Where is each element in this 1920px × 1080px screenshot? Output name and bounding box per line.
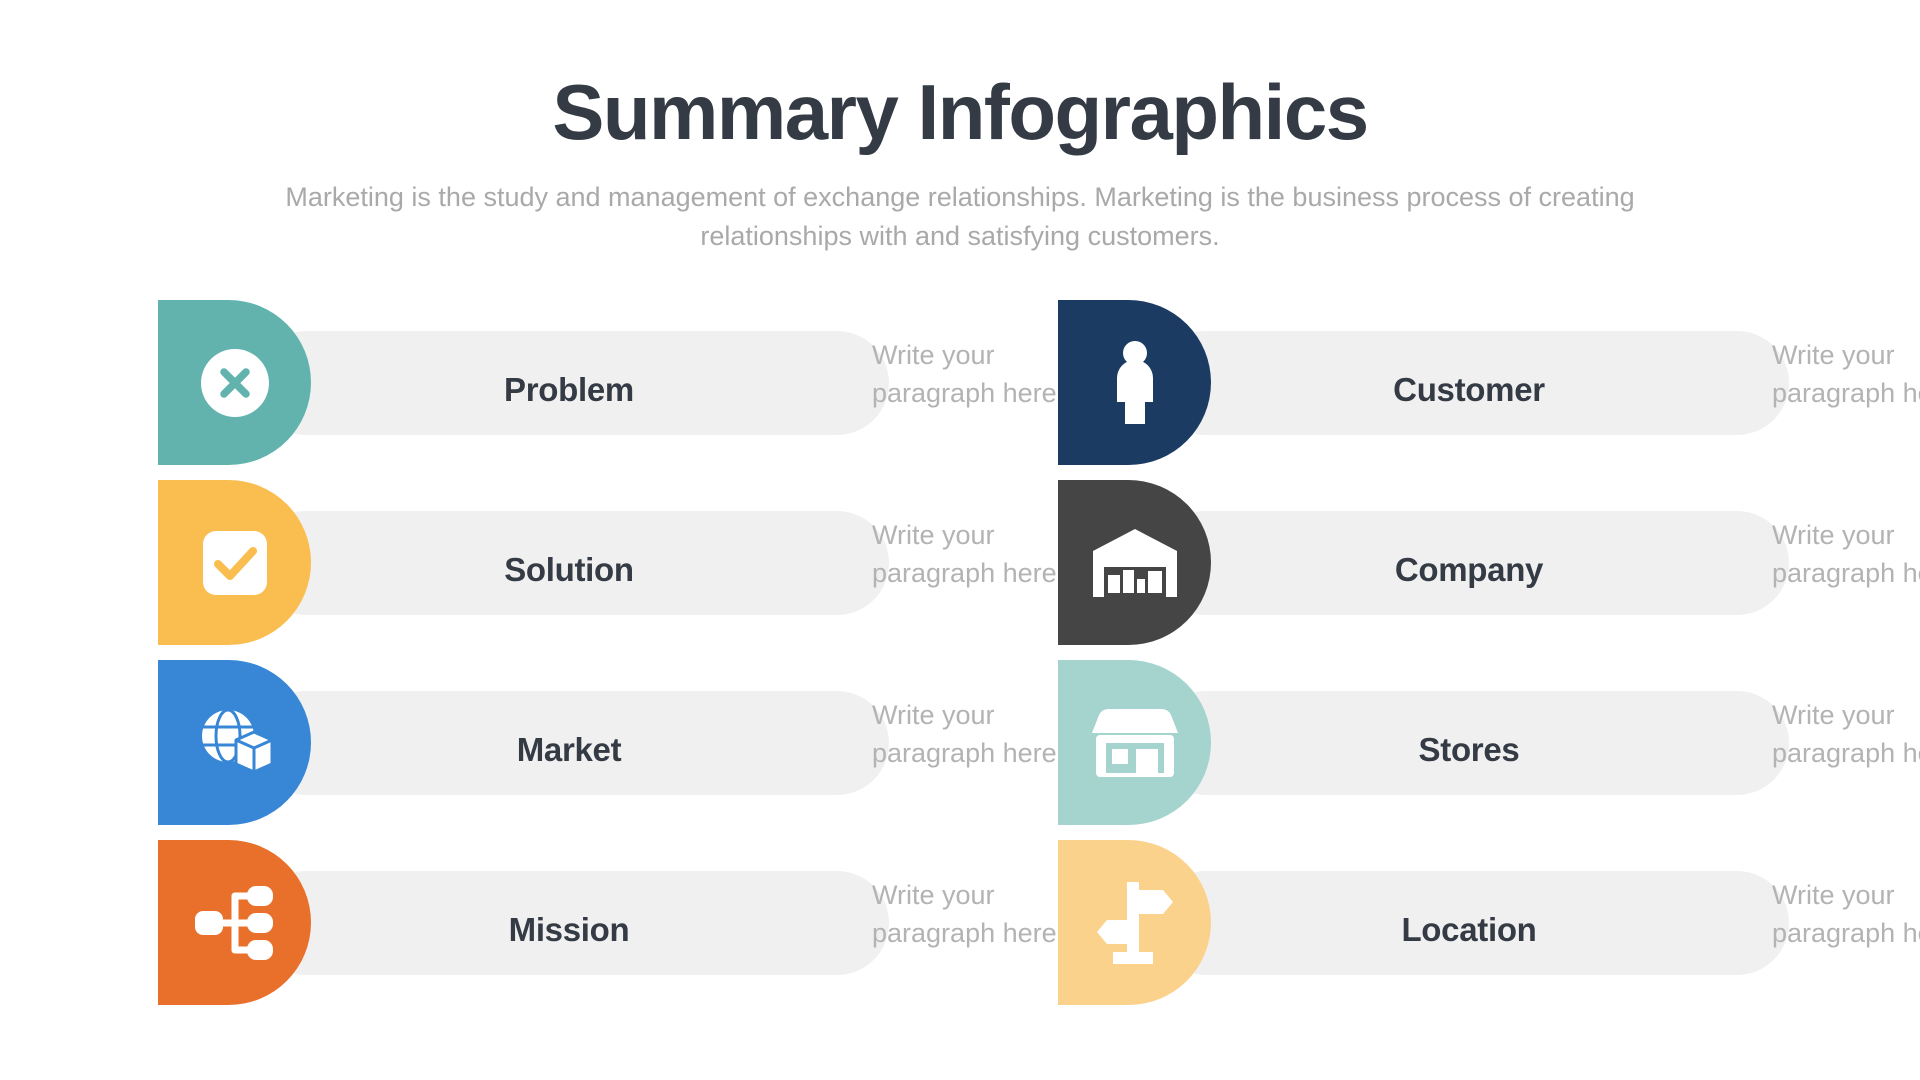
card-mission[interactable]: MissionWrite your paragraph here (158, 840, 968, 1020)
card-description: Write your paragraph here (872, 696, 1102, 773)
card-label: Solution (404, 551, 734, 589)
card-market[interactable]: MarketWrite your paragraph here (158, 660, 968, 840)
warehouse-icon (1091, 527, 1179, 599)
card-stores[interactable]: StoresWrite your paragraph here (1058, 660, 1868, 840)
card-customer[interactable]: CustomerWrite your paragraph here (1058, 300, 1868, 480)
card-label: Customer (1304, 371, 1634, 409)
card-label: Location (1304, 911, 1634, 949)
page-subtitle: Marketing is the study and management of… (215, 178, 1705, 256)
globe-package-icon (192, 700, 278, 786)
card-description: Write your paragraph here (1772, 516, 1920, 593)
card-label: Market (404, 731, 734, 769)
card-description: Write your paragraph here (1772, 696, 1920, 773)
card-badge-solution[interactable] (158, 480, 311, 645)
card-problem[interactable]: ProblemWrite your paragraph here (158, 300, 968, 480)
card-description: Write your paragraph here (1772, 336, 1920, 413)
check-square-icon (196, 524, 274, 602)
circle-x-icon (196, 344, 274, 422)
card-description: Write your paragraph here (1772, 876, 1920, 953)
card-label: Company (1304, 551, 1634, 589)
page-title: Summary Infographics (0, 72, 1920, 154)
card-badge-mission[interactable] (158, 840, 311, 1005)
card-label: Problem (404, 371, 734, 409)
card-description: Write your paragraph here (872, 516, 1102, 593)
card-badge-problem[interactable] (158, 300, 311, 465)
card-company[interactable]: CompanyWrite your paragraph here (1058, 480, 1868, 660)
card-solution[interactable]: SolutionWrite your paragraph here (158, 480, 968, 660)
infographic-slide: Summary Infographics Marketing is the st… (0, 0, 1920, 1080)
cards-grid: ProblemWrite your paragraph here Custome… (0, 300, 1920, 1020)
card-description: Write your paragraph here (872, 876, 1102, 953)
card-label: Mission (404, 911, 734, 949)
signpost-icon (1093, 880, 1177, 966)
sitemap-icon (193, 884, 277, 962)
storefront-icon (1092, 705, 1178, 781)
card-badge-market[interactable] (158, 660, 311, 825)
card-label: Stores (1304, 731, 1634, 769)
card-location[interactable]: LocationWrite your paragraph here (1058, 840, 1868, 1020)
card-description: Write your paragraph here (872, 336, 1102, 413)
person-icon (1103, 340, 1167, 426)
header: Summary Infographics Marketing is the st… (0, 0, 1920, 256)
